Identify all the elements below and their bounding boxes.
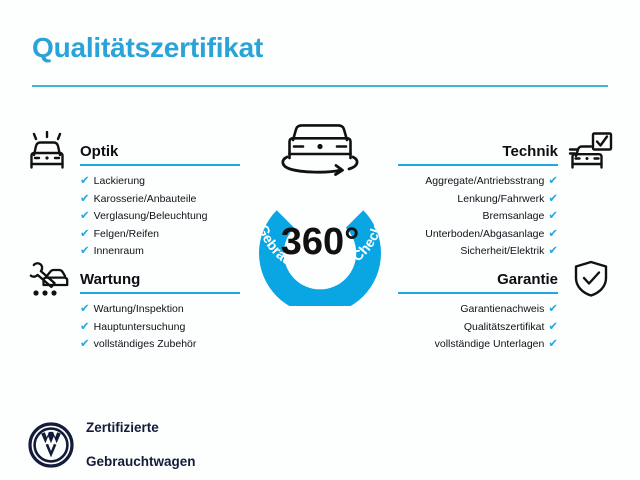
section-technik: Technik Aggregate/Antriebsstrang✔ Lenkun… (398, 136, 558, 261)
badge-360-gebrauchtwagen-check: 360° Gebrauchtwagen-Check (232, 110, 408, 306)
volkswagen-logo (28, 422, 74, 468)
check-icon: ✔ (548, 211, 558, 223)
checklist-garantie: Garantienachweis✔ Qualitätszertifikat✔ v… (398, 301, 558, 354)
list-item-label: vollständige Unterlagen (435, 336, 545, 354)
list-item: ✔Wartung/Inspektion (80, 301, 240, 319)
list-item-label: Unterboden/Abgasanlage (425, 226, 544, 244)
list-item-label: Qualitätszertifikat (464, 319, 545, 337)
check-icon: ✔ (548, 339, 558, 351)
check-icon: ✔ (548, 229, 558, 241)
check-icon: ✔ (80, 322, 90, 334)
section-header-wartung: Wartung (80, 264, 240, 294)
certificate-page: Qualitätszertifikat Optik ✔Lackierung ✔K… (0, 0, 640, 480)
section-garantie: Garantie Garantienachweis✔ Qualitätszert… (398, 264, 558, 354)
check-icon: ✔ (548, 194, 558, 206)
checklist-technik: Aggregate/Antriebsstrang✔ Lenkung/Fahrwe… (398, 173, 558, 261)
footer-line-2: Gebrauchtwagen (86, 453, 196, 470)
list-item: ✔Innenraum (80, 243, 240, 261)
list-item-label: Karosserie/Anbauteile (94, 191, 197, 209)
list-item: Unterboden/Abgasanlage✔ (398, 226, 558, 244)
list-item: Bremsanlage✔ (398, 208, 558, 226)
page-title: Qualitätszertifikat (32, 32, 263, 64)
list-item: Lenkung/Fahrwerk✔ (398, 191, 558, 209)
list-item: Sicherheit/Elektrik✔ (398, 243, 558, 261)
footer-brand: Zertifizierte Gebrauchtwagen (28, 402, 196, 480)
check-icon: ✔ (548, 176, 558, 188)
check-icon: ✔ (80, 211, 90, 223)
wrench-car-lift-icon (24, 259, 70, 299)
list-item: ✔vollständiges Zubehör (80, 336, 240, 354)
list-item: ✔Lackierung (80, 173, 240, 191)
section-title-optik: Optik (80, 143, 118, 160)
list-item: vollständige Unterlagen✔ (398, 336, 558, 354)
check-icon: ✔ (80, 304, 90, 316)
check-icon: ✔ (80, 194, 90, 206)
list-item: ✔Karosserie/Anbauteile (80, 191, 240, 209)
check-icon: ✔ (548, 322, 558, 334)
car-checkbox-icon (568, 131, 614, 171)
list-item: Garantienachweis✔ (398, 301, 558, 319)
car-shine-icon (24, 131, 70, 171)
list-item-label: Lackierung (94, 173, 145, 191)
check-icon: ✔ (548, 246, 558, 258)
list-item-label: vollständiges Zubehör (94, 336, 197, 354)
footer-line-1: Zertifizierte (86, 419, 196, 436)
list-item: Aggregate/Antriebsstrang✔ (398, 173, 558, 191)
checklist-wartung: ✔Wartung/Inspektion ✔Hauptuntersuchung ✔… (80, 301, 240, 354)
list-item: ✔Hauptuntersuchung (80, 319, 240, 337)
list-item: ✔Felgen/Reifen (80, 226, 240, 244)
list-item-label: Verglasung/Beleuchtung (94, 208, 208, 226)
section-rule-garantie (398, 292, 558, 294)
section-optik: Optik ✔Lackierung ✔Karosserie/Anbauteile… (80, 136, 240, 261)
shield-check-icon (568, 259, 614, 299)
check-icon: ✔ (80, 176, 90, 188)
car-rotation-icon (283, 125, 357, 174)
checklist-optik: ✔Lackierung ✔Karosserie/Anbauteile ✔Verg… (80, 173, 240, 261)
section-header-technik: Technik (398, 136, 558, 166)
list-item: Qualitätszertifikat✔ (398, 319, 558, 337)
check-icon: ✔ (80, 246, 90, 258)
title-divider (32, 85, 608, 87)
list-item-label: Bremsanlage (482, 208, 544, 226)
section-title-wartung: Wartung (80, 271, 140, 288)
list-item-label: Hauptuntersuchung (94, 319, 186, 337)
list-item: ✔Verglasung/Beleuchtung (80, 208, 240, 226)
list-item-label: Innenraum (94, 243, 144, 261)
section-header-optik: Optik (80, 136, 240, 166)
section-title-garantie: Garantie (497, 271, 558, 288)
check-icon: ✔ (80, 229, 90, 241)
check-icon: ✔ (80, 339, 90, 351)
section-rule-technik (398, 164, 558, 166)
list-item-label: Garantienachweis (460, 301, 544, 319)
section-wartung: Wartung ✔Wartung/Inspektion ✔Hauptunters… (80, 264, 240, 354)
section-rule-optik (80, 164, 240, 166)
section-header-garantie: Garantie (398, 264, 558, 294)
footer-text: Zertifizierte Gebrauchtwagen (86, 402, 196, 480)
list-item-label: Felgen/Reifen (94, 226, 159, 244)
list-item-label: Lenkung/Fahrwerk (457, 191, 544, 209)
list-item-label: Sicherheit/Elektrik (460, 243, 544, 261)
list-item-label: Wartung/Inspektion (94, 301, 184, 319)
list-item-label: Aggregate/Antriebsstrang (425, 173, 544, 191)
section-title-technik: Technik (502, 143, 558, 160)
check-icon: ✔ (548, 304, 558, 316)
section-rule-wartung (80, 292, 240, 294)
